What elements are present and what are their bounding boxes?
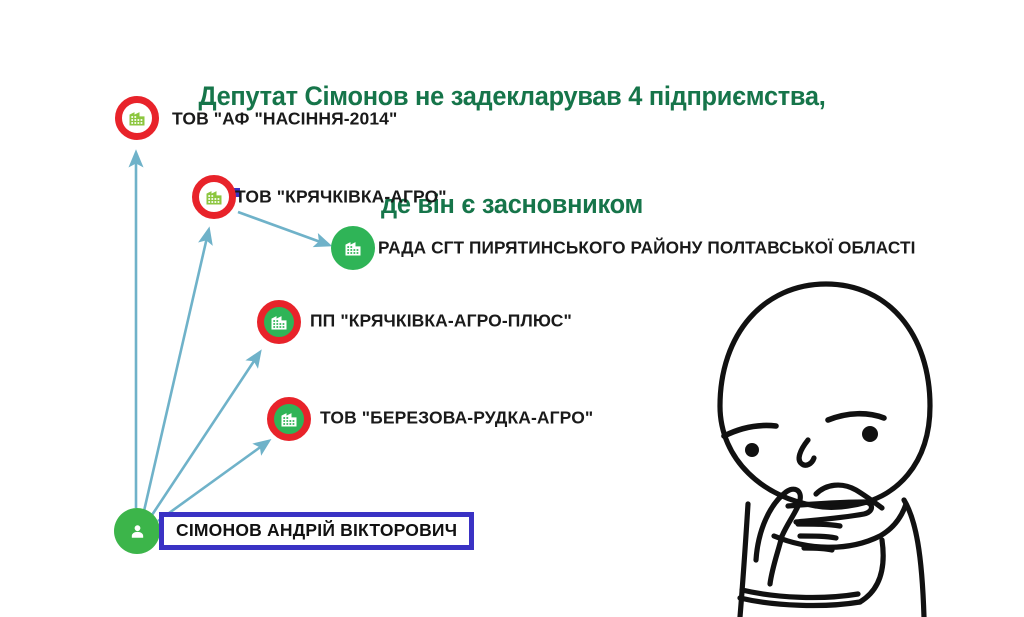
graph-node-kryachkivka-agro-plus[interactable] — [257, 300, 301, 344]
person-icon — [129, 523, 146, 540]
graph-node-person-simonov[interactable] — [114, 508, 160, 554]
graph-node-nasinnya-2014[interactable] — [115, 96, 159, 140]
graph-node-rada-pyryatyn[interactable] — [331, 226, 375, 270]
left-eye — [745, 443, 759, 457]
right-eye — [862, 426, 878, 442]
node-circle — [192, 175, 236, 219]
graph-node-label-person-simonov[interactable]: СІМОНОВ АНДРІЙ ВІКТОРОВИЧ — [159, 512, 474, 550]
building-icon — [269, 312, 289, 332]
node-circle — [257, 300, 301, 344]
graph-node-label-nasinnya-2014: ТОВ "АФ "НАСІННЯ-2014" — [172, 109, 397, 130]
node-circle — [115, 96, 159, 140]
node-circle — [331, 226, 375, 270]
edge-person-to-kryachkivka — [144, 233, 208, 511]
building-icon — [343, 238, 363, 258]
edge-kryachkivka-to-rada — [238, 212, 326, 244]
node-circle — [267, 397, 311, 441]
building-icon — [127, 108, 147, 128]
edge-person-to-kryachkivka-plus — [152, 355, 258, 515]
graph-node-berezova-rudka-agro[interactable] — [267, 397, 311, 441]
infographic-canvas: Депутат Сімонов не задекларував 4 підпри… — [0, 0, 1024, 617]
graph-node-label-rada-pyryatyn: РАДА СГТ ПИРЯТИНСЬКОГО РАЙОНУ ПОЛТАВСЬКО… — [378, 238, 916, 259]
node-circle — [114, 508, 160, 554]
graph-node-label-kryachkivka-agro-plus: ПП "КРЯЧКІВКА-АГРО-ПЛЮС" — [310, 311, 572, 332]
thinking-face-meme — [636, 268, 1016, 617]
graph-node-kryachkivka-agro[interactable] — [192, 175, 236, 219]
building-icon — [204, 187, 224, 207]
building-icon — [279, 409, 299, 429]
graph-node-label-berezova-rudka-agro: ТОВ "БЕРЕЗОВА-РУДКА-АГРО" — [320, 408, 593, 429]
graph-node-label-kryachkivka-agro: ТОВ "КРЯЧКІВКА-АГРО" — [235, 187, 447, 208]
